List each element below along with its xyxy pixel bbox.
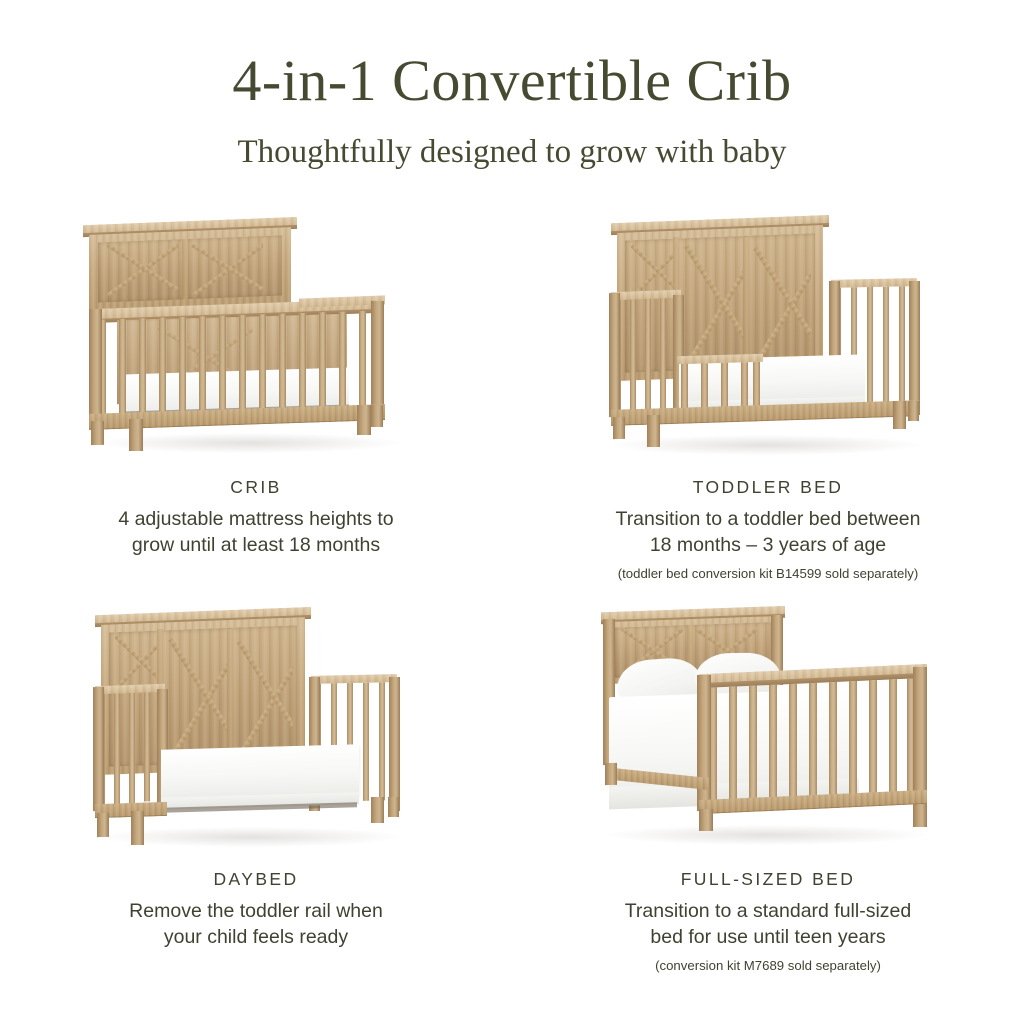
mode-card-toddler-bed: TODDLER BED Transition to a toddler bed … (512, 205, 1024, 605)
mode-title-crib: CRIB (16, 477, 496, 498)
page-subtitle: Thoughtfully designed to grow with baby (0, 136, 1024, 169)
mode-note-toddler-bed: (toddler bed conversion kit B14599 sold … (528, 565, 1008, 582)
daybed-photo (0, 597, 512, 867)
caption-crib: CRIB 4 adjustable mattress heights to gr… (16, 477, 496, 558)
mode-card-crib: CRIB 4 adjustable mattress heights to gr… (0, 205, 512, 605)
mode-body-toddler-bed-line1: Transition to a toddler bed between (528, 507, 1008, 533)
mode-body-full-sized-bed-line2: bed for use until teen years (528, 925, 1008, 951)
mode-body-daybed-line2: your child feels ready (16, 925, 496, 951)
mode-card-daybed: DAYBED Remove the toddler rail when your… (0, 597, 512, 997)
page-title: 4-in-1 Convertible Crib (0, 52, 1024, 110)
mode-body-daybed-line1: Remove the toddler rail when (16, 899, 496, 925)
infographic-page: 4-in-1 Convertible Crib Thoughtfully des… (0, 0, 1024, 1024)
caption-toddler-bed: TODDLER BED Transition to a toddler bed … (528, 477, 1008, 583)
mode-card-full-sized-bed: FULL-SIZED BED Transition to a standard … (512, 597, 1024, 997)
mode-body-crib-line1: 4 adjustable mattress heights to (16, 507, 496, 533)
mode-body-crib-line2: grow until at least 18 months (16, 533, 496, 559)
mode-grid: CRIB 4 adjustable mattress heights to gr… (0, 205, 1024, 1005)
mode-body-toddler-bed-line2: 18 months – 3 years of age (528, 533, 1008, 559)
full-sized-bed-photo (512, 597, 1024, 867)
mode-note-full-sized-bed: (conversion kit M7689 sold separately) (528, 957, 1008, 974)
mode-title-daybed: DAYBED (16, 869, 496, 890)
caption-full-sized-bed: FULL-SIZED BED Transition to a standard … (528, 869, 1008, 975)
header: 4-in-1 Convertible Crib Thoughtfully des… (0, 52, 1024, 169)
caption-daybed: DAYBED Remove the toddler rail when your… (16, 869, 496, 950)
crib-photo (0, 205, 512, 475)
toddler-bed-photo (512, 205, 1024, 475)
mode-title-toddler-bed: TODDLER BED (528, 477, 1008, 498)
mode-body-full-sized-bed-line1: Transition to a standard full-sized (528, 899, 1008, 925)
mode-title-full-sized-bed: FULL-SIZED BED (528, 869, 1008, 890)
